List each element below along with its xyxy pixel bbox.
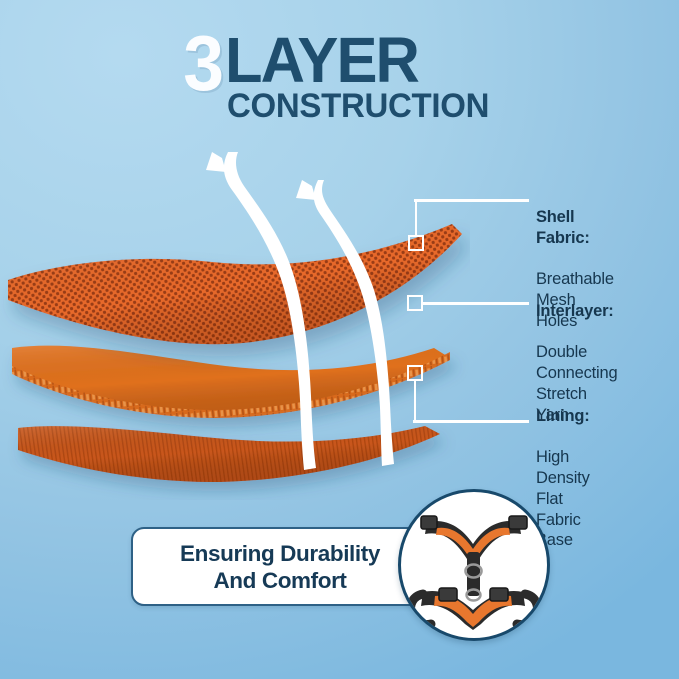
shell-fabric-lead-vertical bbox=[415, 199, 418, 237]
tagline-line-2: And Comfort bbox=[180, 567, 380, 594]
infographic-canvas: 3 LAYER CONSTRUCTION bbox=[0, 0, 679, 679]
shell-fabric-marker bbox=[408, 235, 424, 251]
tagline-banner: Ensuring Durability And Comfort bbox=[131, 527, 429, 606]
title-number: 3 bbox=[183, 28, 221, 100]
interlayer-marker bbox=[407, 295, 423, 311]
tagline-line-1: Ensuring Durability bbox=[180, 540, 380, 567]
callout-shell-fabric-heading: Shell Fabric: bbox=[536, 207, 614, 249]
page-title: 3 LAYER CONSTRUCTION bbox=[0, 28, 679, 123]
tagline-text: Ensuring Durability And Comfort bbox=[170, 540, 390, 594]
title-word-layer: LAYER bbox=[225, 28, 486, 93]
dog-harness-icon bbox=[401, 492, 547, 638]
title-subtitle-construction: CONSTRUCTION bbox=[227, 89, 489, 123]
callout-lining-text: Lining: High Density Flat Fabric Base bbox=[536, 385, 590, 551]
title-text-group: LAYER CONSTRUCTION bbox=[225, 28, 497, 123]
layer-illustration bbox=[0, 150, 470, 500]
mesh-layer bbox=[8, 224, 462, 344]
product-image-circle bbox=[398, 489, 550, 641]
title-row: 3 LAYER CONSTRUCTION bbox=[0, 28, 679, 123]
callout-interlayer-heading: Interlayer: bbox=[536, 301, 617, 322]
callout-lining-heading: Lining: bbox=[536, 406, 590, 427]
lining-lead-vertical bbox=[414, 381, 417, 422]
interlayer-lead-horizontal bbox=[423, 302, 529, 305]
lining-marker bbox=[407, 365, 423, 381]
lining-lead-horizontal bbox=[413, 420, 529, 423]
shell-fabric-lead-horizontal bbox=[414, 199, 529, 202]
callout-lining-body: High Density Flat Fabric Base bbox=[536, 448, 590, 549]
lining-layer bbox=[18, 426, 440, 482]
